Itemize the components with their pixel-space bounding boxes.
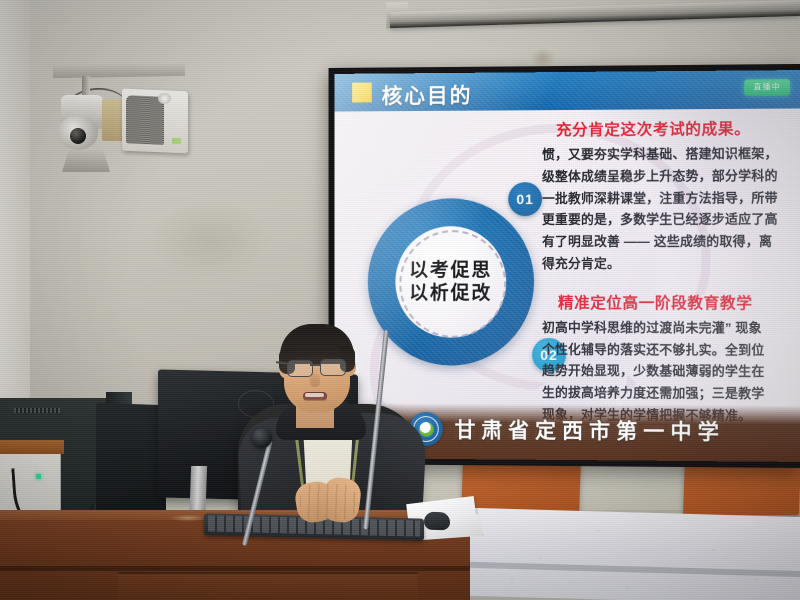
table-texture xyxy=(440,507,800,600)
podium-front-panel xyxy=(118,572,418,600)
presenter-nose xyxy=(310,374,320,387)
glasses-lens-right xyxy=(320,359,346,376)
camera-lens-icon xyxy=(70,128,86,144)
speaker-grill xyxy=(126,95,164,145)
wall-mark xyxy=(530,48,556,68)
camera-bracket xyxy=(62,150,110,172)
cabinet-wood-top xyxy=(0,440,64,454)
secondary-monitor[interactable] xyxy=(96,403,166,515)
wall-shadow xyxy=(150,200,270,280)
presentation-slide: 核心目的 直播中 以考促思 以析促改 01 02 充分肯定这次考试的成果。 惯，… xyxy=(334,70,800,462)
screenshot-root: 核心目的 直播中 以考促思 以析促改 01 02 充分肯定这次考试的成果。 惯，… xyxy=(0,0,800,600)
mount-plate xyxy=(53,62,185,78)
podium-edge xyxy=(0,566,470,571)
emblem-core xyxy=(419,422,434,437)
mouse[interactable] xyxy=(424,512,450,531)
glasses-bridge xyxy=(310,364,321,366)
speaker-knob[interactable] xyxy=(158,93,171,104)
presenter-fingers xyxy=(300,484,356,520)
rack-status-led-icon xyxy=(36,474,41,479)
microphone-head-icon[interactable] xyxy=(252,428,272,448)
speaker-led-icon xyxy=(172,138,181,144)
school-name: 甘肃省定西市第一中学 xyxy=(455,414,725,446)
rack-vent xyxy=(14,408,60,413)
cable-junction-box xyxy=(102,99,124,141)
projection-screen[interactable]: 核心目的 直播中 以考促思 以析促改 01 02 充分肯定这次考试的成果。 惯，… xyxy=(334,70,800,462)
presenter-teeth xyxy=(305,393,324,397)
glasses-lens-left xyxy=(287,360,313,377)
